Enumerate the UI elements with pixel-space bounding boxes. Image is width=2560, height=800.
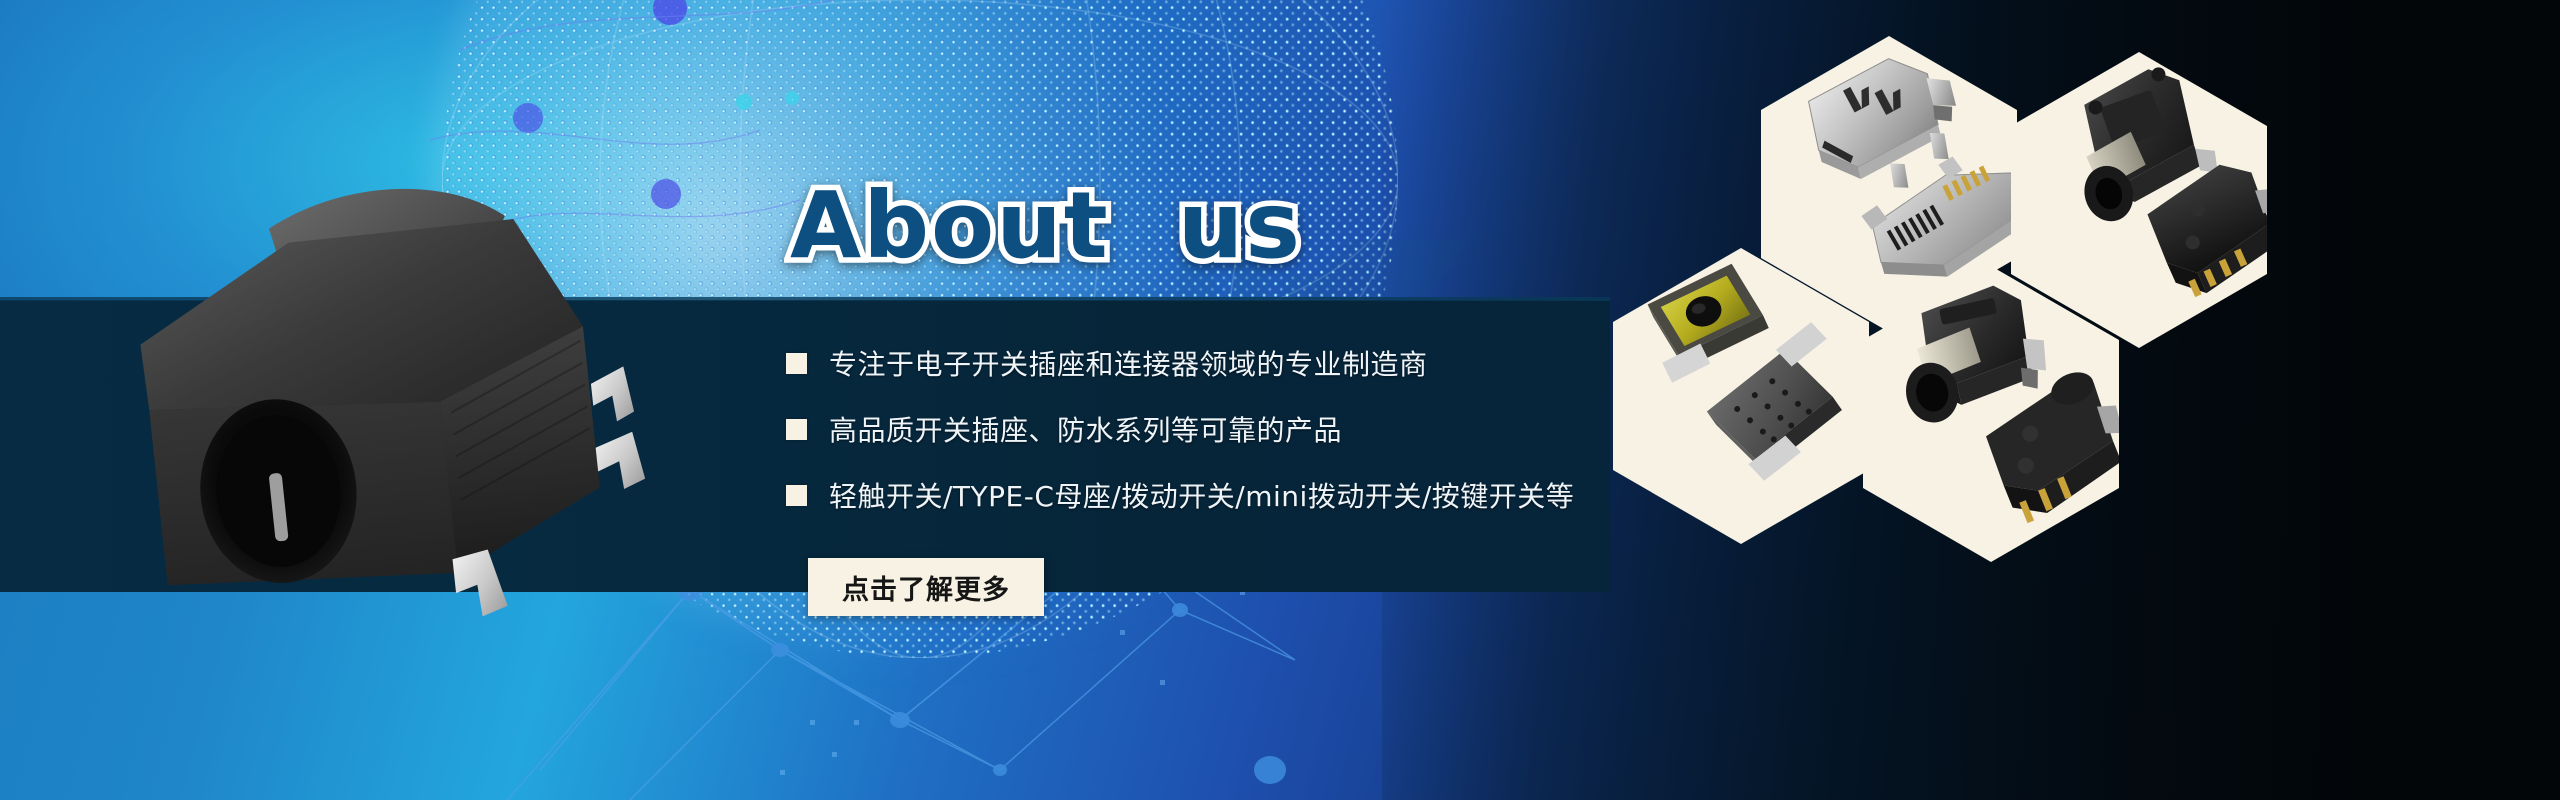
- square-bullet-icon: [786, 485, 807, 506]
- list-item: 高品质开关插座、防水系列等可靠的产品: [786, 406, 1574, 452]
- list-item-label: 轻触开关/TYPE-C母座/拨动开关/mini拨动开关/按键开关等: [829, 475, 1574, 515]
- square-bullet-icon: [786, 419, 807, 440]
- list-item: 专注于电子开关插座和连接器领域的专业制造商: [786, 340, 1574, 386]
- list-item: 轻触开关/TYPE-C母座/拨动开关/mini拨动开关/按键开关等: [786, 472, 1574, 518]
- page-title: About us: [790, 178, 1302, 275]
- list-item-label: 高品质开关插座、防水系列等可靠的产品: [829, 409, 1342, 449]
- about-us-banner: About us 专注于电子开关插座和连接器领域的专业制造商 高品质开关插座、防…: [0, 0, 2560, 800]
- learn-more-button-label: 点击了解更多: [842, 568, 1010, 607]
- list-item-label: 专注于电子开关插座和连接器领域的专业制造商: [829, 343, 1428, 383]
- square-bullet-icon: [786, 353, 807, 374]
- learn-more-button[interactable]: 点击了解更多: [808, 558, 1044, 616]
- page-title-text: About us: [790, 178, 1302, 275]
- product-hexagon-gallery: [1555, 0, 2560, 800]
- feature-list: 专注于电子开关插座和连接器领域的专业制造商 高品质开关插座、防水系列等可靠的产品…: [786, 340, 1574, 538]
- product-image-dc-power-jack: [97, 144, 663, 666]
